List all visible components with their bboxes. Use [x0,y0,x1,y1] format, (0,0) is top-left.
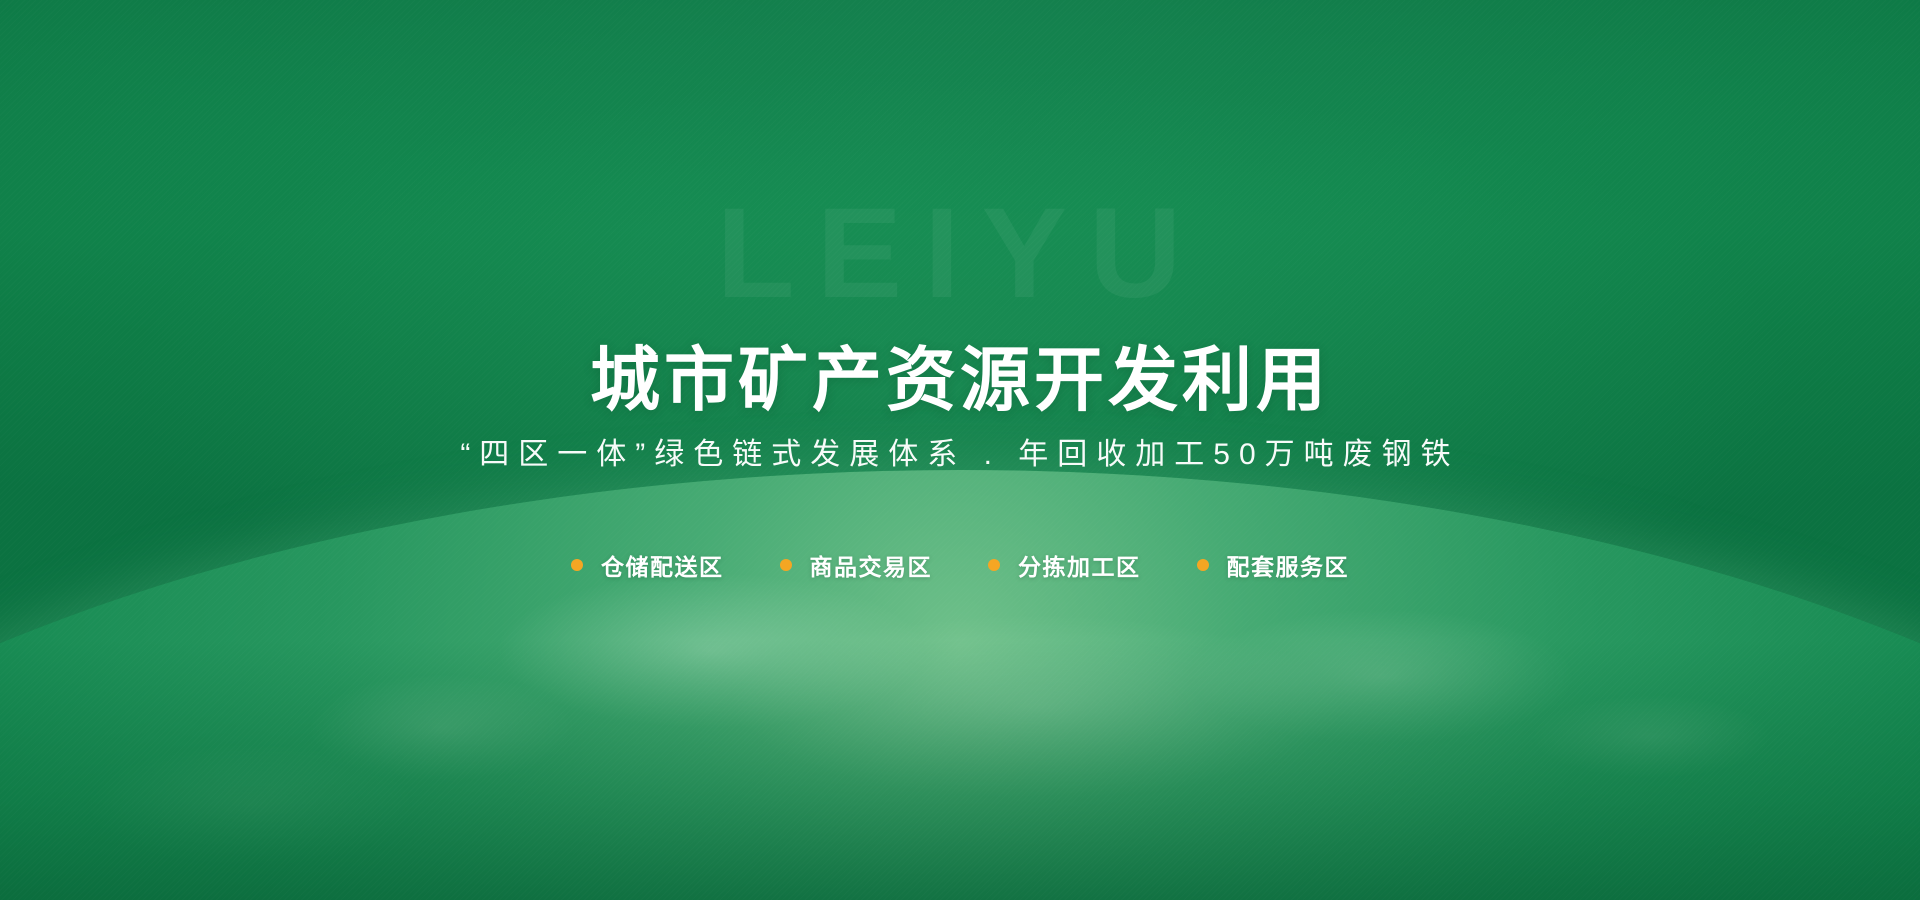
zone-tag-item[interactable]: 配套服务区 [1197,548,1350,582]
hero-content: 城市矿产资源开发利用 “四区一体”绿色链式发展体系 . 年回收加工50万吨废钢铁… [0,0,1920,900]
zone-tag-list: 仓储配送区 商品交易区 分拣加工区 配套服务区 [0,548,1920,582]
hero-banner: LEIYU 城市矿产资源开发利用 “四区一体”绿色链式发展体系 . 年回收加工5… [0,0,1920,900]
zone-tag-item[interactable]: 分拣加工区 [988,548,1141,582]
bullet-dot-icon [988,559,1000,571]
zone-tag-item[interactable]: 仓储配送区 [571,548,724,582]
bullet-dot-icon [1197,559,1209,571]
bullet-dot-icon [571,559,583,571]
bullet-dot-icon [780,559,792,571]
zone-tag-label: 配套服务区 [1227,548,1350,582]
zone-tag-item[interactable]: 商品交易区 [780,548,933,582]
zone-tag-label: 分拣加工区 [1018,548,1141,582]
zone-tag-label: 商品交易区 [810,548,933,582]
zone-tag-label: 仓储配送区 [601,548,724,582]
page-subtitle: “四区一体”绿色链式发展体系 . 年回收加工50万吨废钢铁 [0,437,1920,473]
page-title: 城市矿产资源开发利用 [0,342,1920,419]
